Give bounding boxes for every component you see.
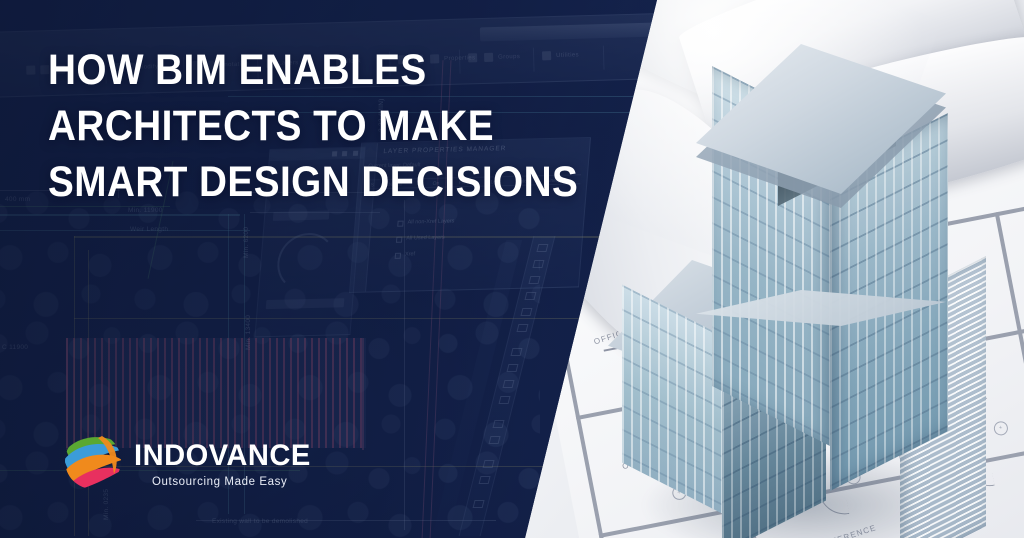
headline-line-1: HOW BIM ENABLES [48, 42, 552, 98]
page-title: HOW BIM ENABLES ARCHITECTS TO MAKE SMART… [48, 42, 552, 210]
headline-line-2: ARCHITECTS TO MAKE [48, 98, 552, 154]
brand-logo[interactable]: INDOVANCE Outsourcing Made Easy [62, 428, 362, 500]
blog-banner: OFFICE OFFICE OFFICE CONFERENCE OFFICE O… [0, 0, 1024, 538]
logo-tagline: Outsourcing Made Easy [152, 476, 287, 488]
indovance-globe-swirl-icon [62, 430, 124, 492]
headline-line-3: SMART DESIGN DECISIONS [48, 154, 552, 210]
bim-building-model [600, 10, 1024, 530]
logo-wordmark: INDOVANCE [134, 439, 311, 473]
